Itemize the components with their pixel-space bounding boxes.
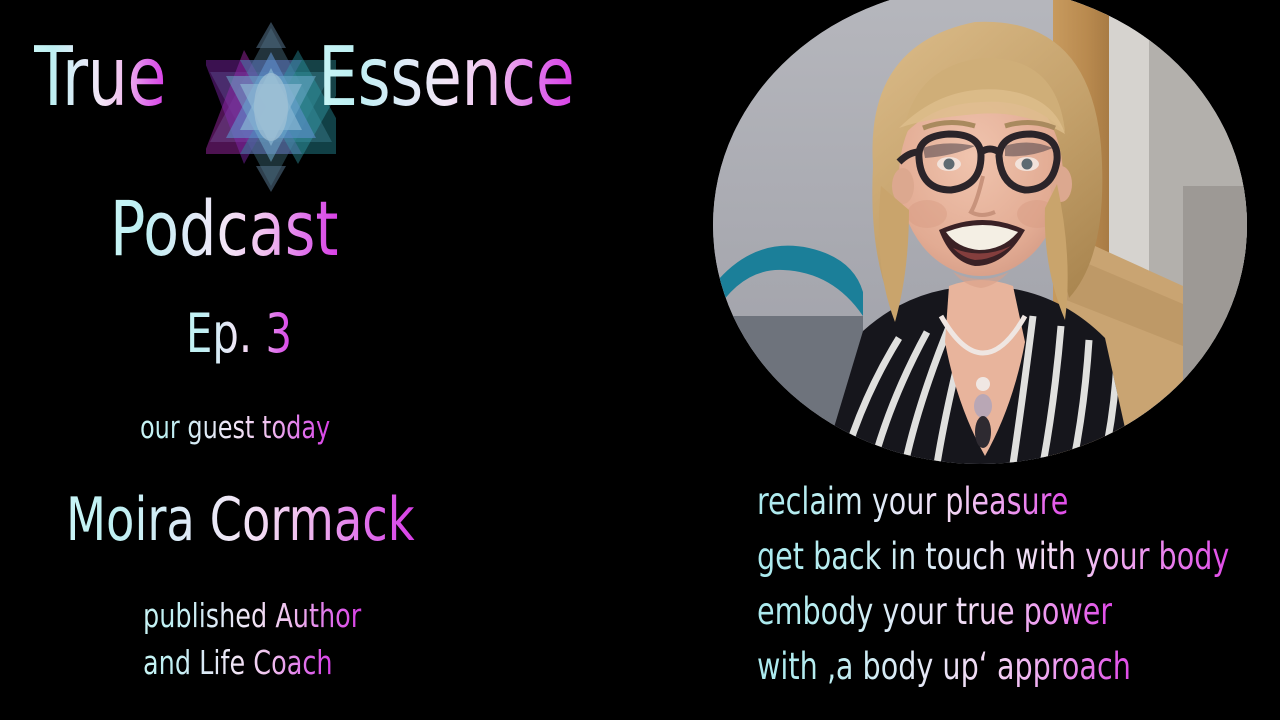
brand-title-word-true-text: True — [34, 30, 166, 126]
brand-subtitle: Podcast — [110, 186, 376, 273]
tagline-item: embody your true power — [757, 584, 1277, 639]
brand-subtitle-text: Podcast — [110, 186, 338, 272]
guest-name: Moira Cormack — [66, 484, 471, 556]
guest-name-text: Moira Cormack — [66, 484, 415, 556]
tagline-text: reclaim your pleasure — [757, 474, 1068, 529]
guest-photo — [713, 0, 1247, 464]
tagline-item: get back in touch with your body — [757, 529, 1277, 584]
tagline-text: get back in touch with your body — [757, 529, 1229, 584]
guest-role-line-text: and Life Coach — [143, 639, 333, 686]
tagline-block: reclaim your pleasure get back in touch … — [757, 474, 1277, 694]
tagline-item: with ‚a body up‘ approach — [757, 639, 1277, 694]
guest-role-block: published Author and Life Coach — [143, 592, 397, 686]
brand-title-word-true: True — [34, 30, 187, 126]
guest-role-line-text: published Author — [143, 592, 361, 639]
left-text-column: True — [0, 0, 700, 720]
tagline-item: reclaim your pleasure — [757, 474, 1277, 529]
tagline-text: embody your true power — [757, 584, 1112, 639]
guest-kicker-text: our guest today — [140, 408, 330, 448]
guest-role-line: and Life Coach — [143, 639, 397, 686]
podcast-cover-slide: True — [0, 0, 1280, 720]
brand-title-row: True — [26, 30, 626, 140]
episode-label: Ep. 3 — [186, 302, 309, 366]
tagline-text: with ‚a body up‘ approach — [757, 639, 1131, 694]
star-mandala-icon — [206, 22, 336, 192]
guest-role-line: published Author — [143, 592, 397, 639]
episode-label-text: Ep. 3 — [186, 302, 292, 366]
guest-kicker: our guest today — [140, 408, 361, 448]
brand-title-word-essence: Essence — [318, 30, 616, 126]
brand-title-word-essence-text: Essence — [318, 30, 574, 126]
